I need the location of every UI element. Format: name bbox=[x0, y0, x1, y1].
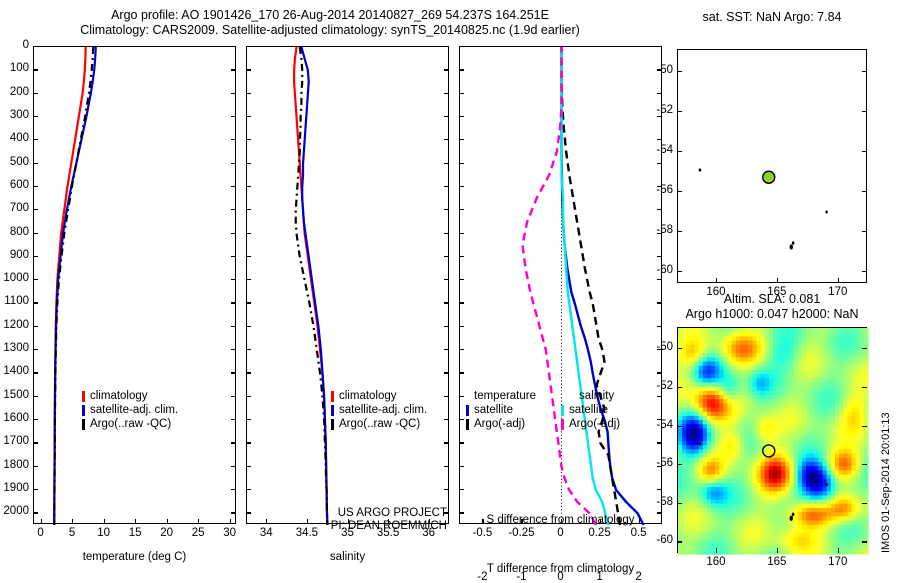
sla-cell bbox=[719, 512, 724, 517]
sla-cell bbox=[843, 462, 848, 467]
sla-cell bbox=[740, 408, 745, 413]
axis-tick bbox=[231, 326, 236, 327]
sla-cell bbox=[711, 361, 716, 366]
axis-tick bbox=[198, 519, 199, 524]
sla-cell bbox=[798, 504, 803, 509]
sla-cell bbox=[690, 500, 695, 505]
sla-cell bbox=[827, 529, 832, 534]
sla-cell bbox=[810, 516, 815, 521]
sla-cell bbox=[856, 512, 861, 517]
sla-cell bbox=[773, 441, 778, 446]
sla-cell bbox=[719, 529, 724, 534]
sla-cell bbox=[711, 491, 716, 496]
sla-cell bbox=[699, 341, 704, 346]
sla-cell bbox=[818, 541, 823, 546]
sla-cell bbox=[814, 546, 819, 551]
sla-cell bbox=[719, 537, 724, 542]
sla-cell bbox=[810, 495, 815, 500]
sla-cell bbox=[756, 378, 761, 383]
sla-cell bbox=[794, 525, 799, 530]
sla-cell bbox=[802, 483, 807, 488]
sla-cell bbox=[823, 420, 828, 425]
sla-cell bbox=[835, 462, 840, 467]
sla-cell bbox=[790, 504, 795, 509]
sla-cell bbox=[823, 370, 828, 375]
sla-cell bbox=[798, 420, 803, 425]
sla-cell bbox=[802, 445, 807, 450]
sla-cell bbox=[765, 483, 770, 488]
axis-tick bbox=[862, 464, 867, 465]
sla-cell bbox=[806, 541, 811, 546]
sla-cell bbox=[835, 374, 840, 379]
sla-cell bbox=[748, 483, 753, 488]
sla-cell bbox=[810, 466, 815, 471]
sla-cell bbox=[843, 500, 848, 505]
axis-tick bbox=[246, 139, 251, 140]
sla-cell bbox=[810, 462, 815, 467]
sla-cell bbox=[686, 366, 691, 371]
sla-cell bbox=[794, 374, 799, 379]
axis-tick-label: -60 bbox=[625, 534, 673, 546]
sla-cell bbox=[682, 508, 687, 513]
sla-cell bbox=[699, 458, 704, 463]
sla-cell bbox=[802, 516, 807, 521]
sla-cell bbox=[699, 366, 704, 371]
sla-cell bbox=[810, 508, 815, 513]
sla-cell bbox=[699, 491, 704, 496]
sla-cell bbox=[699, 345, 704, 350]
sla-cell bbox=[843, 428, 848, 433]
sla-cell bbox=[781, 466, 786, 471]
sla-cell bbox=[790, 374, 795, 379]
sla-cell bbox=[785, 462, 790, 467]
sla-cell bbox=[856, 495, 861, 500]
sla-cell bbox=[785, 416, 790, 421]
sla-cell bbox=[695, 357, 700, 362]
sla-cell bbox=[790, 546, 795, 551]
sla-cell bbox=[790, 424, 795, 429]
sla-cell bbox=[773, 416, 778, 421]
sla-cell bbox=[765, 412, 770, 417]
sla-cell bbox=[711, 466, 716, 471]
sla-cell bbox=[847, 332, 852, 337]
sla-cell bbox=[843, 336, 848, 341]
sla-cell bbox=[711, 353, 716, 358]
sla-cell bbox=[785, 341, 790, 346]
sla-cell bbox=[715, 533, 720, 538]
credit-line1: US ARGO PROJECT bbox=[249, 507, 447, 519]
sla-cell bbox=[814, 332, 819, 337]
sla-cell bbox=[744, 458, 749, 463]
sla-cell bbox=[810, 378, 815, 383]
sla-cell bbox=[806, 483, 811, 488]
argo-float-marker bbox=[763, 171, 775, 183]
axis-tick bbox=[33, 419, 38, 420]
sla-cell bbox=[703, 387, 708, 392]
axis-tick bbox=[444, 69, 449, 70]
sla-cell bbox=[695, 387, 700, 392]
sla-cell bbox=[723, 454, 728, 459]
sla-cell bbox=[839, 495, 844, 500]
sla-cell bbox=[864, 395, 869, 400]
sla-cell bbox=[843, 387, 848, 392]
sla-cell bbox=[781, 353, 786, 358]
axis-tick-label: 1100 bbox=[0, 295, 29, 307]
sla-cell bbox=[765, 349, 770, 354]
sla-cell bbox=[860, 458, 865, 463]
sla-cell bbox=[802, 550, 807, 555]
sla-cell bbox=[740, 428, 745, 433]
sla-cell bbox=[790, 332, 795, 337]
sla-cell bbox=[847, 353, 852, 358]
sla-cell bbox=[732, 357, 737, 362]
sla-map-title-line1: Altim. SLA: 0.081 bbox=[672, 292, 872, 307]
sla-cell bbox=[810, 550, 815, 555]
sla-cell bbox=[839, 382, 844, 387]
sla-cell bbox=[715, 428, 720, 433]
sla-cell bbox=[682, 512, 687, 517]
sla-cell bbox=[744, 500, 749, 505]
sla-cell bbox=[839, 349, 844, 354]
sla-cell bbox=[843, 441, 848, 446]
sla-cell bbox=[752, 408, 757, 413]
sla-cell bbox=[843, 366, 848, 371]
sla-cell bbox=[790, 470, 795, 475]
sla-cell bbox=[732, 521, 737, 526]
sla-cell bbox=[703, 382, 708, 387]
sla-cell bbox=[769, 487, 774, 492]
sla-cell bbox=[707, 525, 712, 530]
sla-cell bbox=[707, 336, 712, 341]
sla-cell bbox=[827, 500, 832, 505]
sla-cell bbox=[856, 428, 861, 433]
sla-cell bbox=[839, 366, 844, 371]
sla-cell bbox=[740, 449, 745, 454]
sla-cell bbox=[860, 529, 865, 534]
sla-cell bbox=[761, 521, 766, 526]
sla-cell bbox=[798, 449, 803, 454]
sla-cell bbox=[761, 345, 766, 350]
sla-cell bbox=[794, 458, 799, 463]
sla-cell bbox=[723, 491, 728, 496]
sla-cell bbox=[851, 483, 856, 488]
sla-cell bbox=[785, 424, 790, 429]
sla-cell bbox=[773, 408, 778, 413]
sla-cell bbox=[773, 361, 778, 366]
sla-cell bbox=[814, 336, 819, 341]
sla-cell bbox=[732, 529, 737, 534]
sla-cell bbox=[744, 420, 749, 425]
sla-cell bbox=[794, 500, 799, 505]
sla-cell bbox=[744, 328, 749, 333]
sla-cell bbox=[744, 412, 749, 417]
sla-cell bbox=[851, 466, 856, 471]
sla-cell bbox=[711, 458, 716, 463]
sla-cell bbox=[719, 328, 724, 333]
sla-cell bbox=[831, 537, 836, 542]
sla-cell bbox=[827, 370, 832, 375]
sla-cell bbox=[823, 521, 828, 526]
sla-cell bbox=[864, 508, 869, 513]
sla-cell bbox=[818, 345, 823, 350]
sla-cell bbox=[695, 366, 700, 371]
sla-cell bbox=[695, 382, 700, 387]
sla-cell bbox=[856, 341, 861, 346]
sla-cell bbox=[740, 529, 745, 534]
sla-cell bbox=[732, 391, 737, 396]
sla-cell bbox=[843, 529, 848, 534]
sla-cell bbox=[864, 412, 869, 417]
sla-cell bbox=[851, 332, 856, 337]
sla-cell bbox=[798, 366, 803, 371]
sla-cell bbox=[827, 449, 832, 454]
sla-cell bbox=[835, 529, 840, 534]
sla-cell bbox=[847, 391, 852, 396]
sla-cell bbox=[847, 462, 852, 467]
sla-cell bbox=[831, 353, 836, 358]
sla-cell bbox=[744, 370, 749, 375]
sla-cell bbox=[785, 474, 790, 479]
sla-cell bbox=[851, 341, 856, 346]
sla-cell bbox=[703, 424, 708, 429]
sla-cell bbox=[728, 495, 733, 500]
legend-title-temperature: temperature bbox=[466, 389, 536, 403]
sla-cell bbox=[711, 541, 716, 546]
sla-cell bbox=[777, 462, 782, 467]
sla-cell bbox=[769, 370, 774, 375]
sla-cell bbox=[711, 495, 716, 500]
sla-cell bbox=[740, 487, 745, 492]
sla-cell bbox=[744, 378, 749, 383]
sla-cell bbox=[785, 508, 790, 513]
axis-tick-label: 1000 bbox=[0, 272, 29, 284]
sla-cell bbox=[719, 479, 724, 484]
sla-cell bbox=[723, 353, 728, 358]
axis-tick-label: 600 bbox=[0, 179, 29, 191]
sla-cell bbox=[761, 550, 766, 555]
sla-cell bbox=[798, 374, 803, 379]
sla-cell bbox=[686, 428, 691, 433]
axis-tick bbox=[444, 186, 449, 187]
sla-cell bbox=[851, 336, 856, 341]
sla-cell bbox=[818, 537, 823, 542]
sla-cell bbox=[682, 546, 687, 551]
sla-cell bbox=[860, 495, 865, 500]
sla-cell bbox=[790, 458, 795, 463]
sla-cell bbox=[740, 378, 745, 383]
sla-cell bbox=[765, 500, 770, 505]
sla-cell bbox=[835, 500, 840, 505]
sla-cell bbox=[831, 445, 836, 450]
sla-cell bbox=[794, 483, 799, 488]
sla-cell bbox=[777, 491, 782, 496]
difference-salinity-axis-label: S difference from climatology bbox=[459, 514, 662, 526]
sla-cell bbox=[765, 361, 770, 366]
sla-cell bbox=[748, 550, 753, 555]
sla-cell bbox=[798, 483, 803, 488]
sla-cell bbox=[860, 454, 865, 459]
sla-cell bbox=[740, 491, 745, 496]
sla-cell bbox=[843, 516, 848, 521]
sla-cell bbox=[715, 382, 720, 387]
sla-cell bbox=[682, 391, 687, 396]
sla-cell bbox=[690, 454, 695, 459]
sla-cell bbox=[818, 366, 823, 371]
difference-line-2 bbox=[562, 47, 609, 525]
sla-cell bbox=[686, 504, 691, 509]
sla-cell bbox=[823, 516, 828, 521]
sla-cell bbox=[695, 479, 700, 484]
sla-cell bbox=[790, 370, 795, 375]
sla-cell bbox=[682, 437, 687, 442]
sla-cell bbox=[752, 341, 757, 346]
temperature-panel bbox=[33, 46, 236, 524]
sla-cell bbox=[823, 366, 828, 371]
sla-cell bbox=[744, 491, 749, 496]
sla-cell bbox=[856, 449, 861, 454]
sla-cell bbox=[765, 474, 770, 479]
sla-cell bbox=[686, 370, 691, 375]
sla-cell bbox=[752, 495, 757, 500]
landmass bbox=[790, 516, 793, 521]
legend-item: Argo(..raw -QC) bbox=[82, 417, 178, 431]
sla-cell bbox=[835, 533, 840, 538]
sla-cell bbox=[806, 349, 811, 354]
sla-cell bbox=[785, 533, 790, 538]
sla-cell bbox=[719, 546, 724, 551]
sla-cell bbox=[765, 437, 770, 442]
sla-cell bbox=[785, 495, 790, 500]
axis-tick bbox=[246, 302, 251, 303]
sla-cell bbox=[806, 366, 811, 371]
sla-cell bbox=[831, 466, 836, 471]
sla-cell bbox=[719, 412, 724, 417]
sla-cell bbox=[707, 512, 712, 517]
sla-cell bbox=[769, 424, 774, 429]
sla-cell bbox=[802, 387, 807, 392]
sla-cell bbox=[831, 378, 836, 383]
sla-cell bbox=[678, 512, 683, 517]
sla-cell bbox=[860, 512, 865, 517]
sla-cell bbox=[827, 537, 832, 542]
axis-tick bbox=[862, 71, 867, 72]
difference-temperature-axis-label: T difference from climatology bbox=[459, 563, 662, 575]
sla-cell bbox=[748, 479, 753, 484]
sla-cell bbox=[761, 370, 766, 375]
sla-cell bbox=[715, 508, 720, 513]
sla-cell bbox=[798, 332, 803, 337]
sla-cell bbox=[843, 424, 848, 429]
sla-cell bbox=[740, 508, 745, 513]
sla-cell bbox=[723, 349, 728, 354]
sla-cell bbox=[703, 550, 708, 555]
sla-cell bbox=[802, 399, 807, 404]
sla-cell bbox=[678, 332, 683, 337]
sla-cell bbox=[839, 378, 844, 383]
sla-cell bbox=[843, 353, 848, 358]
sla-cell bbox=[864, 428, 869, 433]
sla-cell bbox=[711, 378, 716, 383]
sla-cell bbox=[847, 428, 852, 433]
axis-tick bbox=[677, 541, 682, 542]
sla-cell bbox=[695, 521, 700, 526]
sla-cell bbox=[860, 437, 865, 442]
sla-cell bbox=[756, 479, 761, 484]
sla-cell bbox=[777, 420, 782, 425]
sla-cell bbox=[864, 479, 869, 484]
sla-cell bbox=[723, 412, 728, 417]
sla-cell bbox=[736, 521, 741, 526]
sla-cell bbox=[728, 391, 733, 396]
sla-cell bbox=[732, 445, 737, 450]
sla-cell bbox=[744, 416, 749, 421]
sla-cell bbox=[806, 399, 811, 404]
sla-cell bbox=[856, 462, 861, 467]
sla-cell bbox=[823, 345, 828, 350]
sla-cell bbox=[736, 504, 741, 509]
axis-tick-label: 1400 bbox=[0, 365, 29, 377]
sla-cell bbox=[823, 403, 828, 408]
sla-cell bbox=[769, 420, 774, 425]
sla-cell bbox=[794, 366, 799, 371]
sla-cell bbox=[864, 441, 869, 446]
sla-cell bbox=[723, 416, 728, 421]
sla-cell bbox=[769, 366, 774, 371]
sla-cell bbox=[695, 537, 700, 542]
sla-cell bbox=[781, 462, 786, 467]
sla-cell bbox=[699, 495, 704, 500]
sla-cell bbox=[740, 336, 745, 341]
sla-cell bbox=[851, 504, 856, 509]
sla-cell bbox=[847, 433, 852, 438]
sla-cell bbox=[752, 449, 757, 454]
sla-cell bbox=[773, 370, 778, 375]
sla-cell bbox=[835, 433, 840, 438]
sla-cell bbox=[777, 353, 782, 358]
sla-cell bbox=[686, 491, 691, 496]
sla-cell bbox=[736, 366, 741, 371]
sla-cell bbox=[851, 374, 856, 379]
sla-cell bbox=[744, 479, 749, 484]
sla-cell bbox=[678, 437, 683, 442]
sla-cell bbox=[678, 328, 683, 333]
legend-label: Argo(-adj) bbox=[569, 417, 620, 431]
sla-cell bbox=[839, 437, 844, 442]
sla-cell bbox=[711, 470, 716, 475]
sla-cell bbox=[773, 387, 778, 392]
legend-swatch-satellite-adj bbox=[331, 405, 334, 416]
sla-cell bbox=[818, 546, 823, 551]
sla-cell bbox=[794, 479, 799, 484]
sla-cell bbox=[814, 408, 819, 413]
sla-cell bbox=[748, 441, 753, 446]
sla-cell bbox=[690, 550, 695, 555]
sla-cell bbox=[860, 474, 865, 479]
axis-tick bbox=[459, 489, 464, 490]
axis-tick-label: -54 bbox=[625, 419, 673, 431]
axis-tick bbox=[459, 209, 464, 210]
sla-cell bbox=[682, 341, 687, 346]
sla-cell bbox=[736, 370, 741, 375]
sla-cell bbox=[777, 374, 782, 379]
sla-cell bbox=[719, 403, 724, 408]
sla-cell bbox=[748, 525, 753, 530]
sla-cell bbox=[802, 416, 807, 421]
sla-cell bbox=[723, 408, 728, 413]
sla-cell bbox=[802, 428, 807, 433]
sla-cell bbox=[810, 512, 815, 517]
sla-cell bbox=[777, 516, 782, 521]
